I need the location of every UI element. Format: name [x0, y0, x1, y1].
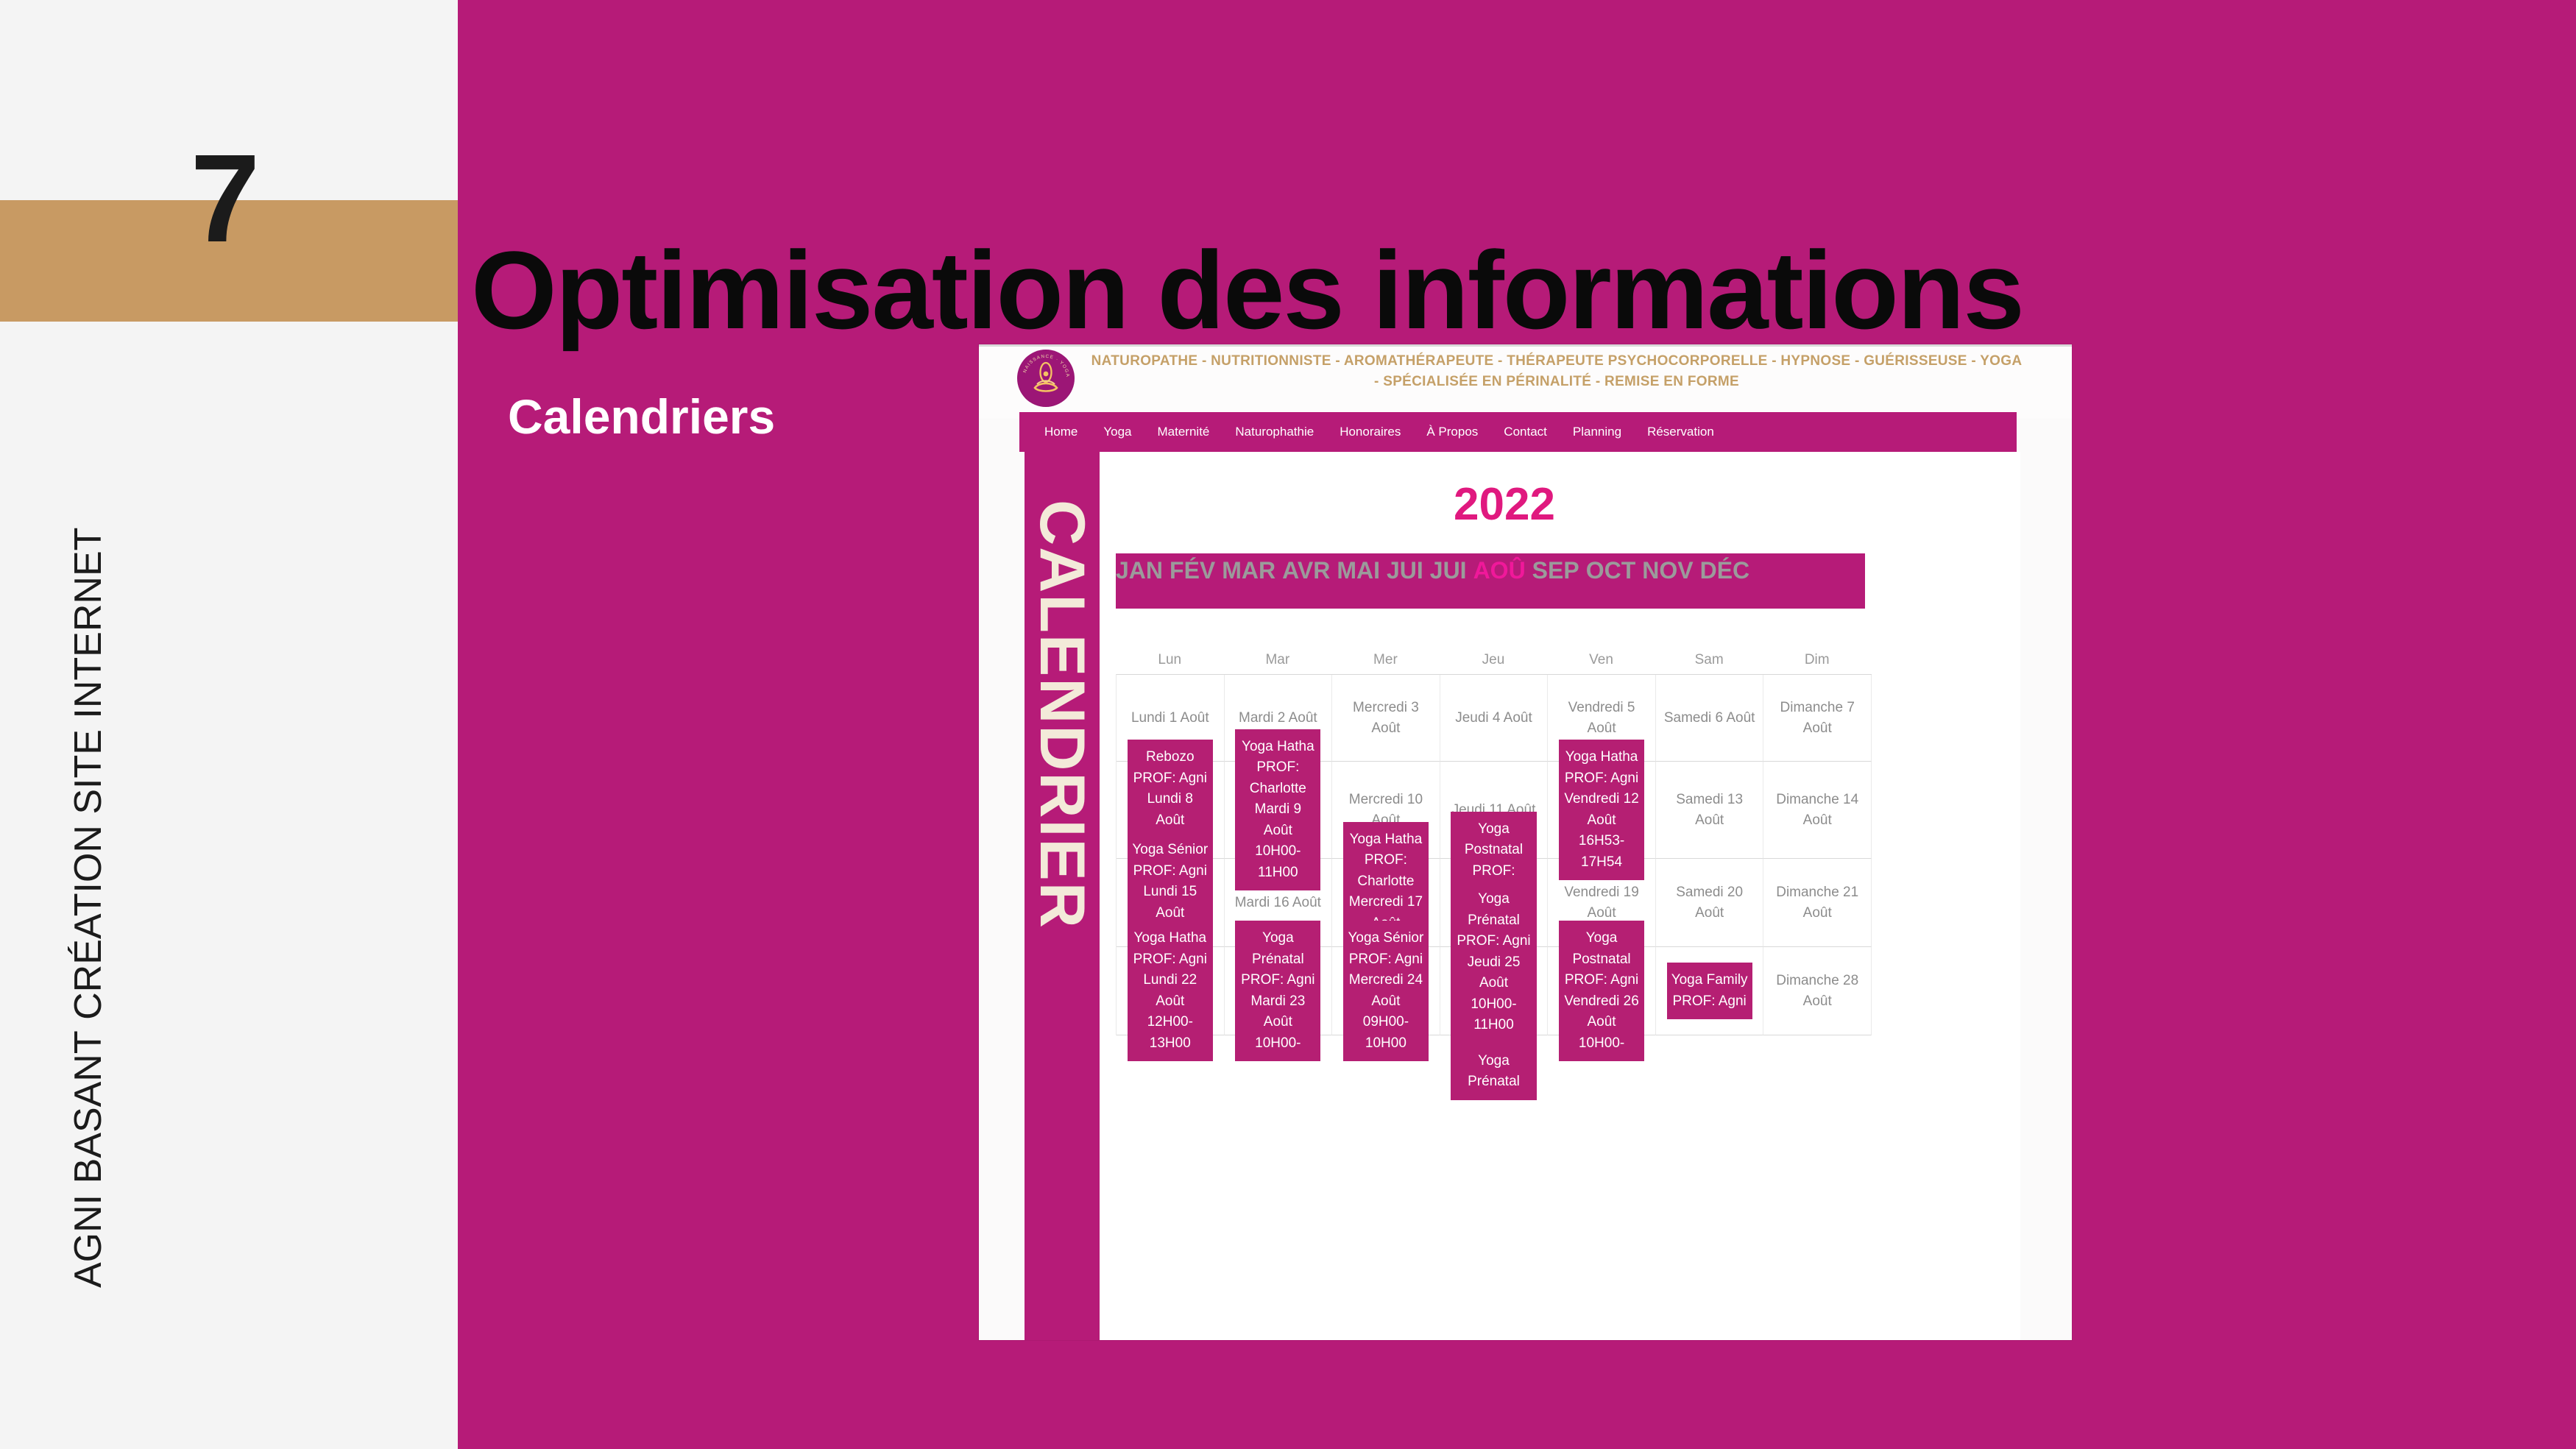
calendar-day-cell[interactable]: Dimanche 7 Août [1763, 675, 1872, 762]
calendar-day-cell[interactable]: Yoga Hatha PROF: Agni Lundi 22 Août 12H0… [1117, 947, 1225, 1035]
calendar-day-label: Lundi 1 Août [1127, 708, 1214, 729]
calendar-day-cell[interactable]: Yoga Prénatal PROF: Agni Jeudi 25 Août 1… [1440, 947, 1549, 1035]
month-option-nov[interactable]: NOV [1642, 557, 1693, 584]
dow-mer: Mer [1331, 652, 1440, 668]
event-stack: Yoga Prénatal PROF: Agni Jeudi 25 Août 1… [1442, 882, 1546, 1100]
page-subtitle: Calendriers [508, 389, 775, 444]
nav-item-home[interactable]: Home [1044, 425, 1078, 439]
calendar-day-label: Mardi 2 Août [1234, 708, 1322, 729]
calendar-event[interactable]: Yoga Prénatal [1451, 1044, 1536, 1100]
month-option-mar[interactable]: MAR [1222, 557, 1275, 584]
dow-mar: Mar [1224, 652, 1332, 668]
calendrier-ribbon-label: CALENDRIER [1030, 500, 1094, 929]
dow-ven: Ven [1547, 652, 1655, 668]
month-option-jan[interactable]: JAN [1116, 557, 1163, 584]
slide-number: 7 [158, 136, 291, 283]
presentation-slide: 7 AGNI BASANT CRÉATION SITE INTERNET Opt… [0, 0, 2576, 1449]
brand-logo-icon[interactable]: NAISSANCE · YOGA · THÉRAPIES [1017, 350, 1075, 407]
calendar-day-cell[interactable]: Yoga Postnatal PROF: Agni Vendredi 26 Ao… [1548, 947, 1656, 1035]
event-stack: Yoga Prénatal PROF: Agni Mardi 23 Août 1… [1226, 921, 1331, 1061]
calendar-event[interactable]: Yoga Hatha PROF: Agni Lundi 22 Août 12H0… [1128, 921, 1213, 1061]
dow-lun: Lun [1116, 652, 1224, 668]
calendar-day-label: Mercredi 3 Août [1334, 698, 1438, 738]
calendar-day-cell[interactable]: Dimanche 21 Août [1763, 859, 1872, 947]
website-screenshot: NAISSANCE · YOGA · THÉRAPIES NATUROPATHE… [979, 344, 2072, 1340]
site-header: NAISSANCE · YOGA · THÉRAPIES NATUROPATHE… [979, 347, 2072, 419]
calendar-day-label: Samedi 20 Août [1657, 882, 1762, 923]
month-option-jui[interactable]: JUI [1430, 557, 1467, 584]
calendar-event[interactable]: Yoga Prénatal PROF: Agni Jeudi 25 Août 1… [1451, 882, 1536, 1044]
month-option-aoû[interactable]: AOÛ [1473, 557, 1526, 584]
calendar-day-cell[interactable]: Yoga Hatha PROF: Agni Vendredi 12 Août 1… [1548, 762, 1656, 859]
calendar-day-label: Dimanche 14 Août [1765, 790, 1869, 830]
calendar-day-label: Dimanche 28 Août [1765, 971, 1869, 1011]
credit-line-3: INTERNET [66, 528, 110, 719]
credit-line-1: AGNI BASANT [66, 1030, 110, 1288]
nav-item-honoraires[interactable]: Honoraires [1340, 425, 1401, 439]
month-option-fév[interactable]: FÉV [1170, 557, 1215, 584]
calendar-widget: 2022 JANFÉVMARAVRMAIJUIJUIAOÛSEPOCTNOVDÉ… [1100, 452, 2020, 1340]
nav-item-a-propos[interactable]: À Propos [1426, 425, 1478, 439]
calendrier-ribbon: CALENDRIER [1025, 440, 1100, 1340]
calendar-day-label: Samedi 6 Août [1660, 708, 1760, 729]
page-title: Optimisation des informations [471, 233, 2023, 349]
vertical-credit: AGNI BASANT CRÉATION SITE INTERNET [66, 758, 110, 1288]
site-nav[interactable]: Home Yoga Maternité Naturophathie Honora… [1019, 412, 2017, 452]
month-option-sep[interactable]: SEP [1532, 557, 1579, 584]
month-selector[interactable]: JANFÉVMARAVRMAIJUIJUIAOÛSEPOCTNOVDÉC [1116, 553, 1865, 609]
site-tagline: NATUROPATHE - NUTRITIONNISTE - AROMATHÉR… [1089, 351, 2024, 392]
nav-item-naturophathie[interactable]: Naturophathie [1235, 425, 1314, 439]
nav-item-contact[interactable]: Contact [1504, 425, 1547, 439]
calendar-day-label: Samedi 13 Août [1657, 790, 1762, 830]
event-stack: Yoga Postnatal PROF: Agni Vendredi 26 Ao… [1549, 921, 1654, 1061]
calendar-day-cell[interactable]: Yoga Family PROF: Agni [1656, 947, 1764, 1035]
calendar-day-cell[interactable]: Jeudi 4 Août [1440, 675, 1549, 762]
calendar-day-cell[interactable]: Samedi 20 Août [1656, 859, 1764, 947]
calendar-day-cell[interactable]: Samedi 13 Août [1656, 762, 1764, 859]
calendar-day-cell[interactable]: Samedi 6 Août [1656, 675, 1764, 762]
month-option-avr[interactable]: AVR [1282, 557, 1330, 584]
left-rail: 7 AGNI BASANT CRÉATION SITE INTERNET [0, 0, 458, 1449]
calendar-day-label: Dimanche 21 Août [1765, 882, 1869, 923]
event-stack: Yoga Hatha PROF: Agni Lundi 22 Août 12H0… [1118, 921, 1222, 1061]
calendar-day-label: Vendredi 19 Août [1549, 882, 1654, 923]
calendar-year: 2022 [1100, 478, 1909, 531]
calendar-day-cell[interactable]: Dimanche 14 Août [1763, 762, 1872, 859]
nav-item-yoga[interactable]: Yoga [1103, 425, 1131, 439]
dow-sam: Sam [1655, 652, 1763, 668]
event-stack: Yoga Family PROF: Agni [1657, 963, 1762, 1019]
site-nav-list: Home Yoga Maternité Naturophathie Honora… [1019, 412, 2017, 452]
calendar-event[interactable]: Yoga Postnatal PROF: Agni Vendredi 26 Ao… [1559, 921, 1644, 1061]
month-option-mai[interactable]: MAI [1337, 557, 1380, 584]
calendar-day-cell[interactable]: Yoga Sénior PROF: Agni Mercredi 24 Août … [1332, 947, 1440, 1035]
calendar-day-label: Dimanche 7 Août [1765, 698, 1869, 738]
credit-line-2: CRÉATION SITE [66, 729, 110, 1020]
nav-item-maternite[interactable]: Maternité [1158, 425, 1210, 439]
calendar-day-label: Vendredi 5 Août [1549, 698, 1654, 738]
calendar-day-label: Mardi 16 Août [1231, 893, 1326, 913]
month-option-oct[interactable]: OCT [1586, 557, 1636, 584]
calendar-day-cell[interactable]: Yoga Hatha PROF: Charlotte Mardi 9 Août … [1225, 762, 1333, 859]
day-of-week-header: LunMarMerJeuVenSamDim [1116, 652, 1871, 668]
dow-dim: Dim [1763, 652, 1871, 668]
calendar-week-row: Yoga Hatha PROF: Agni Lundi 22 Août 12H0… [1117, 947, 1872, 1035]
nav-item-planning[interactable]: Planning [1573, 425, 1621, 439]
dow-jeu: Jeu [1440, 652, 1548, 668]
month-option-déc[interactable]: DÉC [1700, 557, 1750, 584]
nav-item-reservation[interactable]: Réservation [1647, 425, 1714, 439]
calendar-event[interactable]: Yoga Prénatal PROF: Agni Mardi 23 Août 1… [1235, 921, 1320, 1061]
calendar-event[interactable]: Yoga Family PROF: Agni [1667, 963, 1752, 1019]
month-option-jui[interactable]: JUI [1387, 557, 1423, 584]
calendar-day-cell[interactable]: Dimanche 28 Août [1763, 947, 1872, 1035]
event-stack: Yoga Sénior PROF: Agni Mercredi 24 Août … [1334, 921, 1438, 1061]
calendar-grid: Lundi 1 AoûtMardi 2 AoûtMercredi 3 AoûtJ… [1116, 674, 1872, 1035]
calendar-day-cell[interactable]: Mercredi 3 Août [1332, 675, 1440, 762]
calendar-day-label: Jeudi 4 Août [1451, 708, 1537, 729]
calendar-event[interactable]: Yoga Sénior PROF: Agni Mercredi 24 Août … [1343, 921, 1429, 1061]
calendar-day-cell[interactable]: Yoga Prénatal PROF: Agni Mardi 23 Août 1… [1225, 947, 1333, 1035]
